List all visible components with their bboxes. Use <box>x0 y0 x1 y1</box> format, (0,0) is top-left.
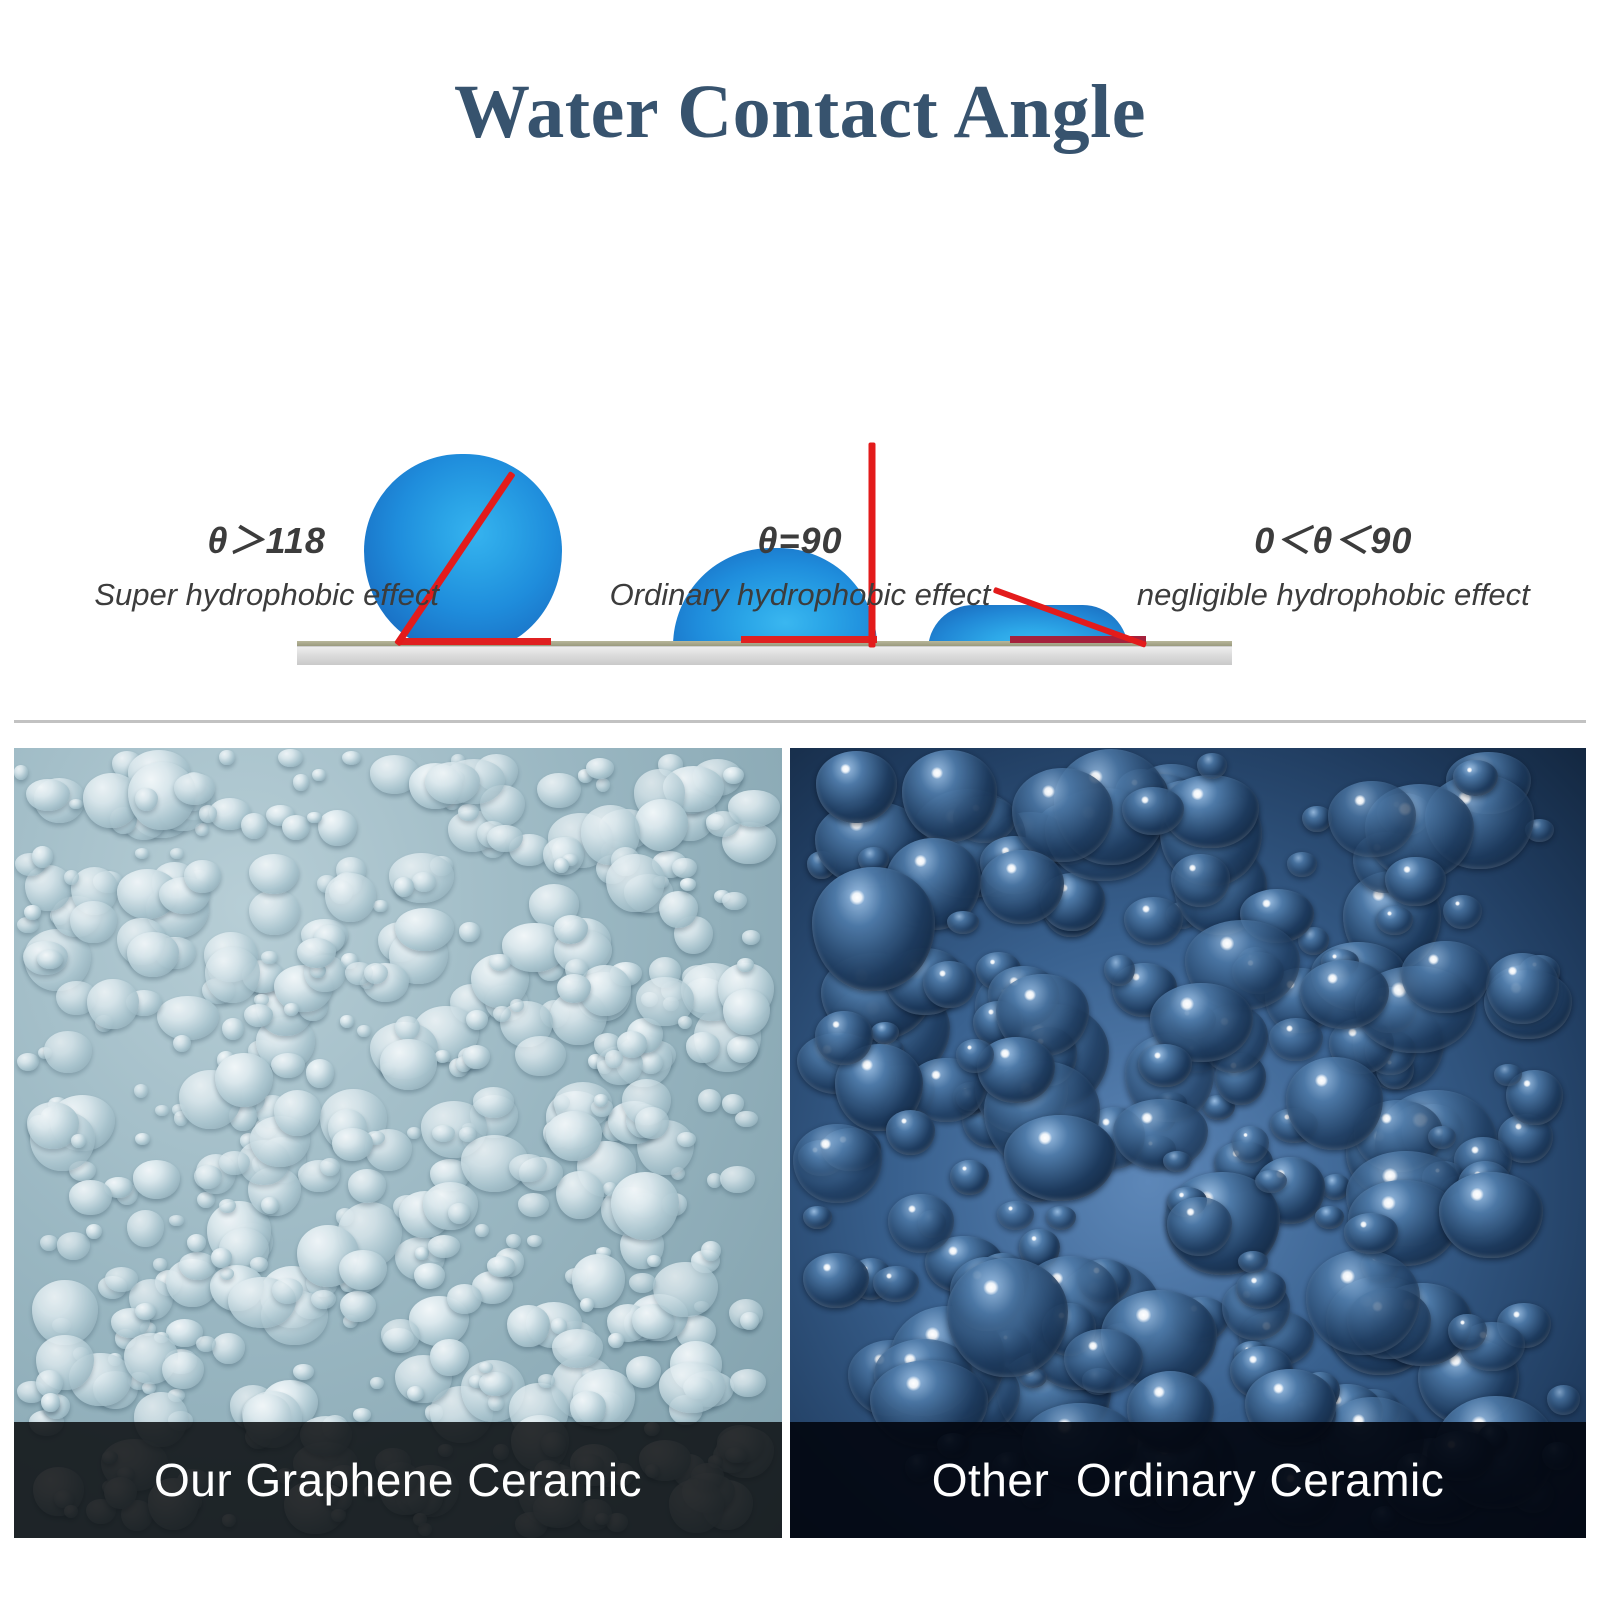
water-droplet <box>1138 1044 1192 1087</box>
water-droplet <box>127 1210 164 1246</box>
droplet-highlight <box>983 1280 999 1296</box>
angle-caption-row: θ＞118 Super hydrophobic effect θ=90 Ordi… <box>0 518 1600 615</box>
water-droplet <box>212 1333 245 1363</box>
water-droplet <box>357 1025 371 1037</box>
substrate-plate <box>297 646 1232 665</box>
water-droplet <box>572 1254 626 1308</box>
water-droplet <box>162 1352 205 1389</box>
water-droplet <box>686 1032 720 1062</box>
water-droplet <box>635 1107 669 1139</box>
droplet-highlight <box>1153 1386 1164 1397</box>
water-droplet <box>57 1232 91 1259</box>
water-droplet <box>1315 1206 1344 1228</box>
droplet-highlight <box>1179 1192 1184 1197</box>
photo-other-ordinary-ceramic: Other Ordinary Ceramic <box>790 748 1586 1538</box>
droplet-highlight <box>990 959 996 965</box>
water-droplet <box>488 1395 504 1411</box>
water-droplet <box>997 1201 1034 1230</box>
effect-label-ordinary: Ordinary hydrophobic effect <box>573 575 1026 615</box>
droplet-highlight <box>1008 1206 1013 1211</box>
water-droplet <box>556 1171 603 1219</box>
water-droplet <box>873 1266 919 1301</box>
water-droplet <box>170 848 184 859</box>
water-droplet <box>219 750 235 765</box>
water-droplet <box>479 1372 511 1397</box>
water-droplet <box>605 1050 623 1067</box>
droplet-highlight <box>1513 1311 1520 1318</box>
water-droplet <box>888 1194 954 1253</box>
water-droplet <box>606 854 665 912</box>
water-droplet <box>311 1290 336 1309</box>
water-droplet <box>407 1127 421 1139</box>
droplet-highlight <box>1180 997 1193 1010</box>
water-droplet <box>723 767 744 784</box>
water-droplet <box>537 773 581 808</box>
water-droplet <box>554 858 569 873</box>
water-droplet <box>1443 895 1482 929</box>
water-droplet <box>447 1284 482 1314</box>
water-droplet <box>956 1039 994 1073</box>
water-droplet <box>1376 906 1413 934</box>
droplet-highlight <box>1006 863 1017 874</box>
water-droplet <box>325 873 376 922</box>
water-droplet <box>340 1291 376 1322</box>
droplet-highlight <box>1186 1208 1194 1216</box>
water-droplet <box>26 779 70 811</box>
water-droplet <box>594 1094 608 1107</box>
water-droplet <box>812 867 934 991</box>
water-droplet <box>816 751 898 823</box>
water-droplet <box>886 1110 935 1154</box>
water-droplet <box>312 769 326 782</box>
water-droplet <box>1238 1251 1268 1273</box>
water-droplet <box>1269 1018 1323 1062</box>
water-droplet <box>1167 1197 1232 1256</box>
water-droplet <box>414 1263 445 1289</box>
angle-column-super-hydrophobic: θ＞118 Super hydrophobic effect <box>0 518 533 615</box>
water-droplet <box>220 1268 234 1280</box>
droplet-highlight <box>939 970 946 977</box>
droplet-highlight <box>1470 1188 1483 1201</box>
water-droplet <box>155 1105 169 1117</box>
water-droplet <box>947 911 979 934</box>
water-droplet <box>332 1128 372 1160</box>
water-droplet <box>1401 941 1490 1013</box>
water-droplet <box>586 758 614 779</box>
droplet-highlight <box>1142 905 1150 913</box>
droplet-highlight <box>1088 1341 1098 1351</box>
comparison-photo-row: Our Graphene Ceramic Other Ordinary Cera… <box>0 748 1600 1538</box>
water-droplet <box>169 1215 183 1225</box>
water-droplet <box>40 1235 58 1251</box>
water-droplet <box>127 932 179 977</box>
water-droplet <box>1163 1151 1191 1171</box>
water-droplet <box>271 1053 305 1078</box>
water-droplet <box>647 1255 661 1268</box>
droplet-highlight <box>1031 1236 1036 1241</box>
water-droplet <box>1012 768 1113 862</box>
water-droplet <box>678 1016 692 1029</box>
water-droplet <box>635 799 688 851</box>
water-droplet <box>815 1011 872 1065</box>
water-droplet <box>723 989 770 1035</box>
water-droplet <box>340 1015 354 1027</box>
water-droplet <box>507 1305 549 1347</box>
water-droplet <box>487 825 523 852</box>
water-droplet <box>629 1273 656 1293</box>
water-droplet <box>135 1133 150 1145</box>
water-droplet <box>241 813 267 839</box>
water-droplet <box>722 892 746 910</box>
droplet-highlight <box>849 890 865 906</box>
droplet-highlight <box>820 1138 832 1150</box>
water-droplet <box>306 1059 334 1087</box>
water-droplet <box>261 951 278 964</box>
water-droplet <box>1439 1172 1542 1257</box>
water-droplet <box>133 1160 180 1198</box>
water-droplet <box>1286 1057 1383 1150</box>
water-droplet <box>552 1329 603 1368</box>
water-droplet <box>135 788 158 811</box>
water-droplet <box>187 1234 207 1252</box>
water-droplet <box>157 996 218 1041</box>
water-droplet <box>395 908 454 951</box>
droplet-highlight <box>1249 1355 1257 1363</box>
water-droplet <box>538 1374 555 1388</box>
water-droplet <box>458 804 479 820</box>
angle-column-negligible-hydrophobic: 0＜θ＜90 negligible hydrophobic effect <box>1067 518 1600 615</box>
water-droplet <box>737 958 753 972</box>
water-droplet <box>677 1132 696 1147</box>
droplet-highlight <box>840 764 851 775</box>
water-droplet <box>24 905 41 920</box>
water-droplet <box>293 774 309 790</box>
contact-angle-diagram <box>0 200 1600 500</box>
droplet-highlight <box>1189 864 1197 872</box>
photo-caption-left: Our Graphene Ceramic <box>14 1422 782 1538</box>
water-droplet <box>554 915 588 944</box>
water-droplet <box>244 1004 273 1027</box>
water-droplet <box>134 1084 148 1098</box>
droplet-highlight <box>1523 1080 1530 1087</box>
droplet-highlight <box>1251 1277 1257 1283</box>
water-droplet <box>803 1253 869 1308</box>
water-droplet <box>611 1172 679 1240</box>
water-droplet <box>342 751 361 765</box>
water-droplet <box>803 1206 832 1229</box>
effect-label-negligible: negligible hydrophobic effect <box>1107 575 1560 615</box>
droplet-highlight <box>1154 1052 1161 1059</box>
water-droplet <box>364 963 388 984</box>
photo-caption-right: Other Ordinary Ceramic <box>790 1422 1586 1538</box>
water-droplet <box>339 1250 386 1291</box>
water-droplet <box>608 1333 623 1348</box>
water-droplet <box>428 1235 460 1258</box>
water-droplet <box>735 1111 758 1128</box>
water-droplet <box>1197 753 1227 779</box>
water-droplet <box>1171 854 1229 907</box>
water-droplet <box>672 858 697 879</box>
contact-baseline-1 <box>401 638 551 645</box>
water-droplet <box>380 1039 438 1089</box>
droplet-highlight <box>886 1273 892 1279</box>
water-droplet <box>278 749 303 767</box>
page-title: Water Contact Angle <box>0 74 1600 150</box>
water-droplet <box>1046 1206 1076 1230</box>
section-divider <box>14 720 1586 723</box>
water-droplet <box>44 1031 92 1072</box>
theta-label-negligible: 0＜θ＜90 <box>1107 518 1560 563</box>
water-droplet <box>1306 1250 1420 1355</box>
droplet-highlight <box>914 855 926 867</box>
droplet-highlight <box>1024 989 1036 1001</box>
droplet-highlight <box>906 1376 921 1391</box>
water-droplet <box>184 860 221 893</box>
water-droplet <box>793 1124 882 1203</box>
water-droplet <box>466 1010 488 1030</box>
water-droplet <box>489 954 511 971</box>
droplet-highlight <box>1348 1028 1357 1037</box>
water-droplet <box>1453 760 1497 796</box>
water-droplet <box>596 778 610 792</box>
contact-baseline-2 <box>741 636 877 643</box>
water-droplet <box>923 961 976 1008</box>
water-droplet <box>720 1166 755 1193</box>
water-droplet <box>557 974 591 1004</box>
water-droplet <box>348 1169 386 1203</box>
water-droplet <box>370 1377 384 1390</box>
water-droplet <box>86 1224 102 1239</box>
water-droplet <box>493 1006 511 1022</box>
water-droplet <box>740 1312 759 1330</box>
water-droplets-left <box>14 748 782 1538</box>
droplet-highlight <box>1515 1123 1522 1130</box>
water-droplet <box>41 1393 60 1411</box>
water-droplet <box>381 1319 419 1353</box>
water-droplet <box>580 1298 595 1312</box>
water-droplet <box>515 1036 565 1076</box>
water-droplet <box>205 947 260 1003</box>
theta-label-ordinary: θ=90 <box>573 518 1026 563</box>
water-droplet <box>950 1160 988 1195</box>
water-droplet <box>506 1234 522 1249</box>
water-droplet <box>527 1235 542 1246</box>
droplet-highlight <box>1360 1221 1367 1228</box>
water-droplet <box>435 1050 450 1062</box>
water-droplet <box>463 1045 490 1069</box>
water-droplet <box>653 1262 717 1317</box>
water-droplet <box>518 1193 549 1217</box>
water-droplet <box>37 950 63 969</box>
water-droplet <box>318 810 357 846</box>
droplet-highlight <box>1315 1074 1328 1087</box>
water-droplet <box>626 1356 661 1388</box>
droplet-highlight <box>1508 966 1517 975</box>
water-droplets-right <box>790 748 1586 1538</box>
water-droplet <box>222 1018 244 1040</box>
photo-our-graphene-ceramic: Our Graphene Ceramic <box>14 748 782 1538</box>
water-droplet <box>1236 1270 1286 1308</box>
water-droplet <box>659 891 698 928</box>
water-droplet <box>197 1192 215 1208</box>
water-droplet <box>1547 1385 1580 1415</box>
droplet-highlight <box>1381 1196 1395 1210</box>
water-droplet <box>194 1165 222 1189</box>
water-droplet <box>459 922 480 941</box>
water-droplet <box>1124 897 1183 945</box>
water-droplet <box>153 1258 167 1271</box>
droplet-highlight <box>832 1021 839 1028</box>
droplet-highlight <box>1000 1048 1010 1058</box>
droplet-highlight <box>1471 1146 1478 1153</box>
water-droplet <box>14 765 28 779</box>
water-droplet <box>282 815 310 840</box>
water-droplet <box>307 812 321 824</box>
water-droplet <box>173 1035 191 1052</box>
water-droplet <box>249 890 300 936</box>
water-droplet <box>1004 1115 1116 1201</box>
water-droplet <box>1255 1170 1287 1193</box>
droplet-highlight <box>1136 1307 1151 1322</box>
water-droplet <box>219 1151 249 1175</box>
water-droplet <box>742 930 761 944</box>
water-droplet <box>1064 1329 1143 1393</box>
water-droplet <box>459 1127 476 1141</box>
water-droplet <box>475 1224 489 1238</box>
water-droplet <box>135 848 149 859</box>
water-droplet <box>1385 857 1445 907</box>
droplet-highlight <box>1191 788 1204 801</box>
water-droplet <box>947 1258 1068 1377</box>
water-droplet <box>1113 1099 1208 1170</box>
water-droplet <box>473 1087 515 1118</box>
water-droplet <box>1287 852 1317 877</box>
water-droplet <box>70 901 116 944</box>
droplet-highlight <box>931 1070 941 1080</box>
droplet-highlight <box>823 1263 832 1272</box>
droplet-highlight <box>861 1059 872 1070</box>
water-droplet <box>69 1180 112 1214</box>
water-droplet <box>293 1364 313 1380</box>
water-droplet <box>87 979 139 1030</box>
water-droplet <box>249 854 299 894</box>
effect-label-super: Super hydrophobic effect <box>40 575 493 615</box>
water-droplet <box>487 1256 516 1277</box>
angle-column-ordinary-hydrophobic: θ=90 Ordinary hydrophobic effect <box>533 518 1066 615</box>
theta-label-super: θ＞118 <box>40 518 493 563</box>
water-droplet <box>698 1089 721 1112</box>
water-droplet <box>274 1090 321 1136</box>
water-droplet <box>430 1339 468 1376</box>
water-droplet <box>17 1053 40 1071</box>
droplet-highlight <box>1467 767 1473 773</box>
water-droplet <box>320 1158 340 1176</box>
water-droplet <box>353 1408 372 1422</box>
water-droplet <box>902 750 997 841</box>
droplet-highlight <box>1141 796 1149 804</box>
water-droplet <box>1344 1213 1399 1253</box>
water-droplet <box>730 1369 767 1397</box>
droplet-highlight <box>1340 1269 1355 1284</box>
water-droplet <box>680 878 696 891</box>
